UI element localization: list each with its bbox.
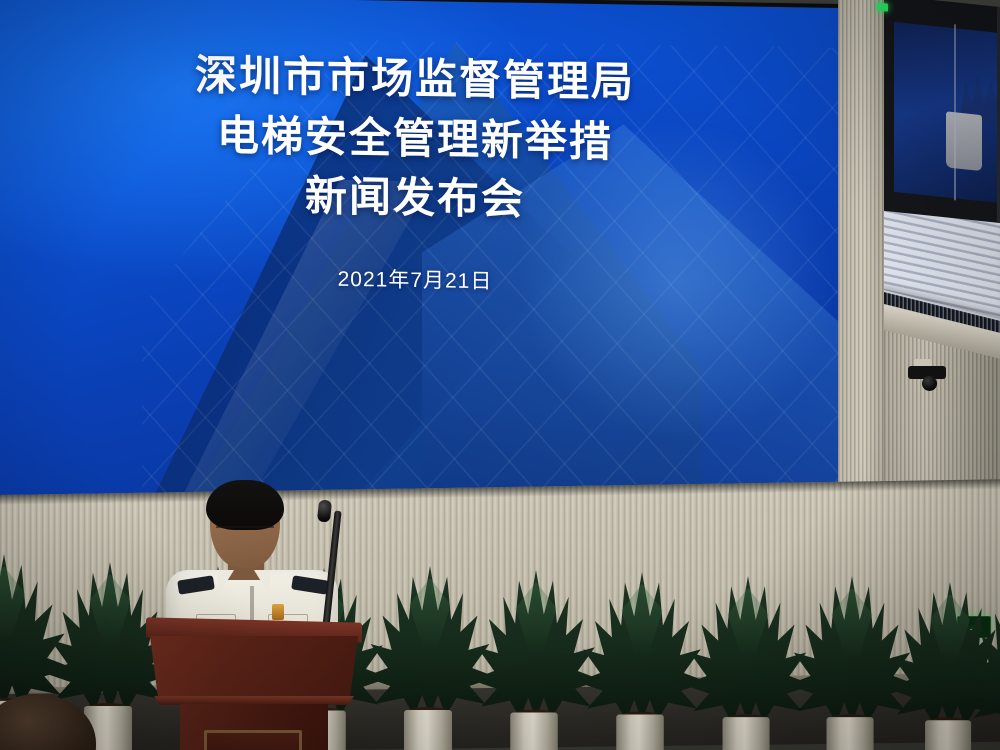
- slide-title-line-2: 电梯安全管理新举措: [217, 105, 613, 171]
- potted-plant: [964, 579, 1000, 750]
- green-indicator-light: [877, 2, 888, 11]
- window-reflection-pot: [946, 111, 982, 171]
- slide-text-block: 深圳市市场监督管理局 电梯安全管理新举措 新闻发布会 2021年7月21日: [0, 0, 838, 520]
- plant-pot: [723, 717, 770, 750]
- plant-pot: [827, 717, 874, 750]
- camera-lens-icon: [922, 376, 937, 391]
- speaker-collar-left: [218, 570, 234, 596]
- speaker-collar-right: [254, 570, 270, 596]
- slide-title-line-1: 深圳市市场监督管理局: [195, 45, 635, 112]
- podium-front-panel: [204, 730, 302, 750]
- right-wall-column: [838, 0, 884, 560]
- speaker-badge: [272, 604, 284, 620]
- slide-title-line-3: 新闻发布会: [305, 166, 525, 229]
- slide-date: 2021年7月21日: [338, 263, 493, 296]
- podium: [142, 620, 366, 750]
- plant-pot: [510, 713, 558, 750]
- window-mullion: [954, 24, 956, 200]
- speaker-hair: [206, 480, 284, 530]
- speaker-glasses: [216, 526, 274, 536]
- projection-screen: 深圳市市场监督管理局 电梯安全管理新举措 新闻发布会 2021年7月21日: [0, 0, 838, 520]
- glass-window-frame: [876, 0, 1000, 223]
- plant-pot: [616, 715, 664, 750]
- plant-pot: [404, 710, 452, 750]
- podium-body: [150, 636, 358, 700]
- plant-foliage: [964, 588, 1000, 729]
- press-conference-photo: 深圳市市场监督管理局 电梯安全管理新举措 新闻发布会 2021年7月21日 →: [0, 0, 1000, 750]
- security-camera: [908, 366, 948, 380]
